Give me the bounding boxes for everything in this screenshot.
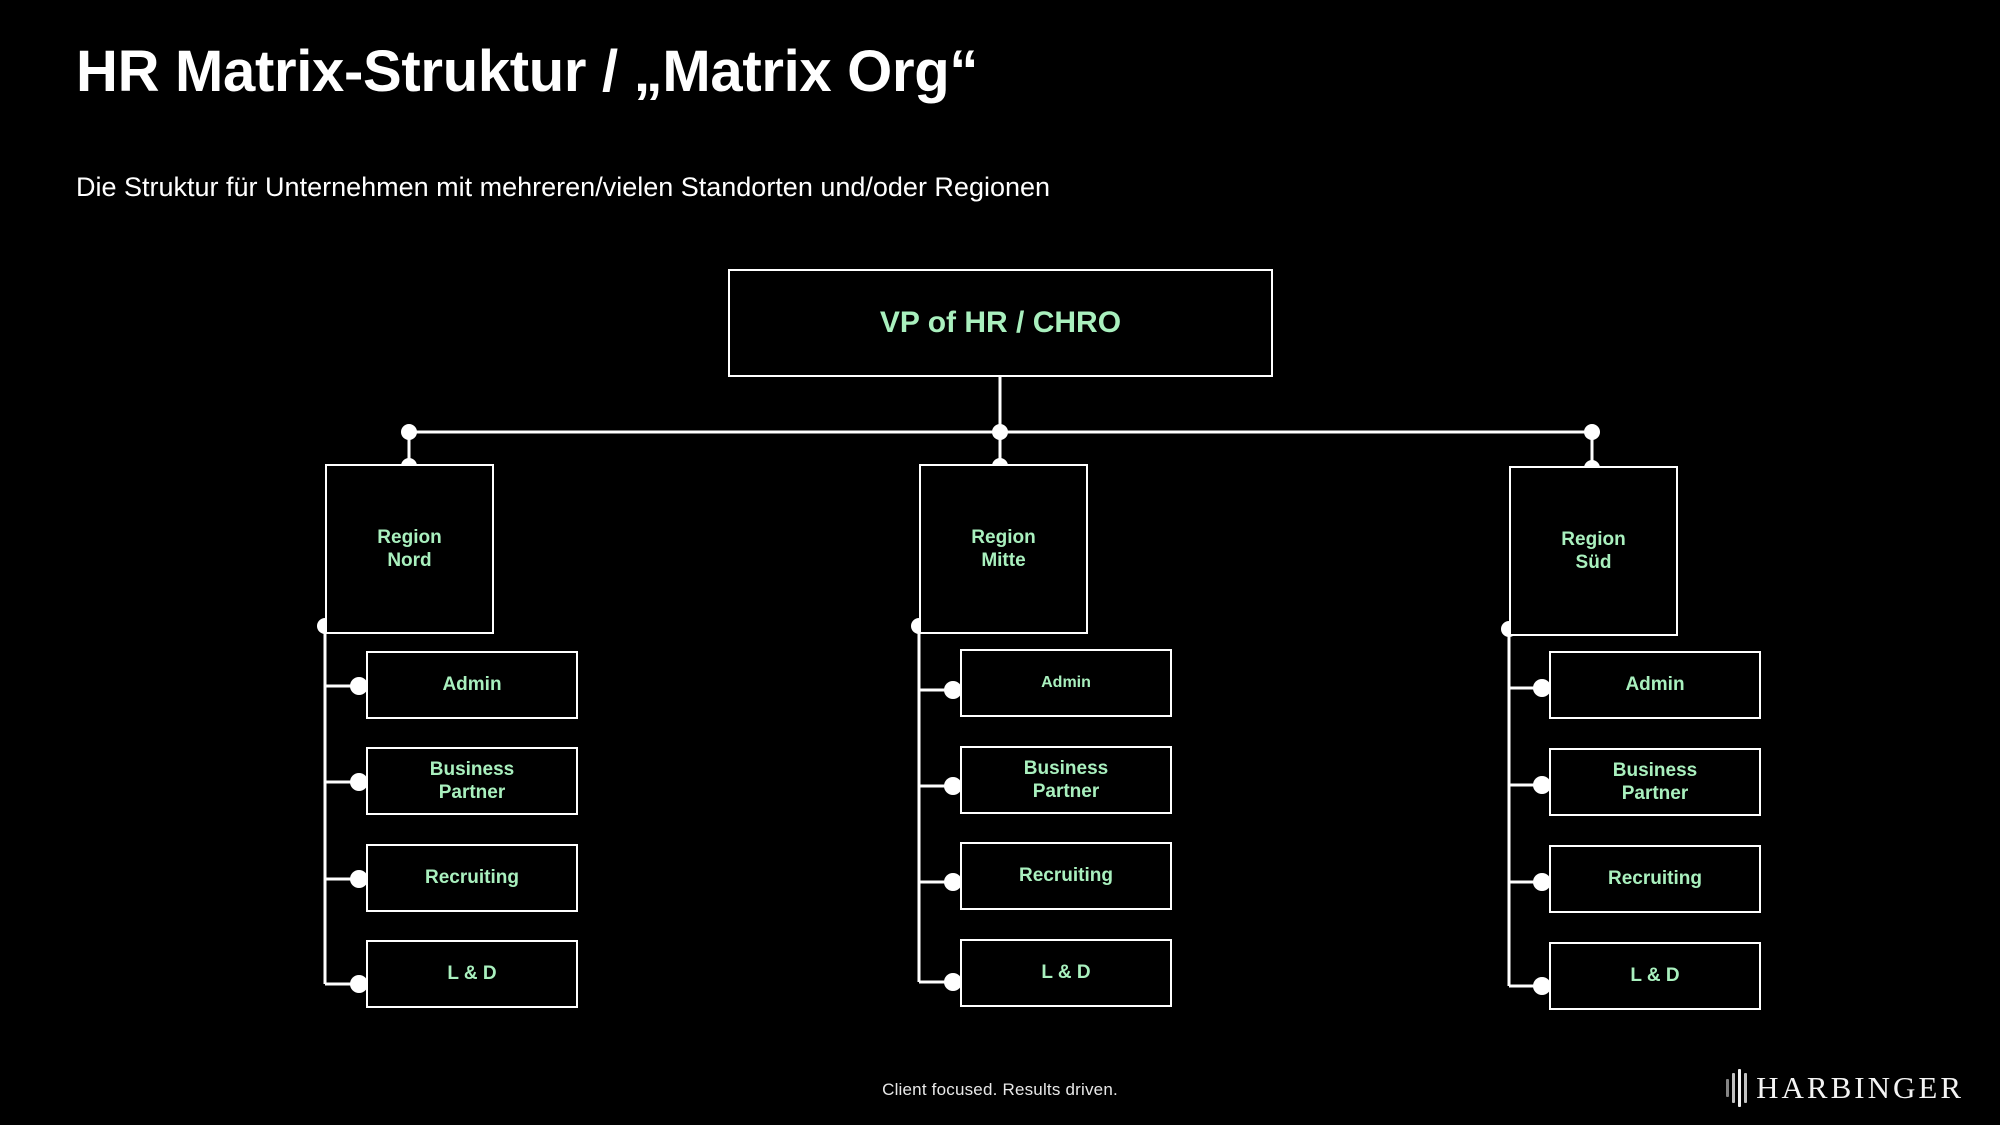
node-region-mitte-line2: Mitte xyxy=(981,550,1025,571)
harbinger-logo: HARBINGER xyxy=(1726,1067,1964,1109)
node-region-sued-line2: Süd xyxy=(1576,552,1612,573)
node-sued-business-partner[interactable]: Business Partner xyxy=(1549,748,1761,816)
node-nord-business-partner[interactable]: Business Partner xyxy=(366,747,578,815)
node-sued-learning-development[interactable]: L & D xyxy=(1549,942,1761,1010)
node-nord-bp-line1: Business xyxy=(430,759,514,780)
footer-tagline: Client focused. Results driven. xyxy=(0,1080,2000,1100)
node-nord-bp-line2: Partner xyxy=(439,782,506,803)
slide-canvas: HR Matrix-Struktur / „Matrix Org“ Die St… xyxy=(0,0,2000,1125)
dot-bus-right xyxy=(1584,424,1600,440)
page-subtitle: Die Struktur für Unternehmen mit mehrere… xyxy=(76,172,1050,203)
node-region-nord[interactable]: Region Nord xyxy=(325,464,494,634)
node-mitte-recruiting[interactable]: Recruiting xyxy=(960,842,1172,910)
dot-bus-center xyxy=(992,424,1008,440)
node-sued-bp-line2: Partner xyxy=(1622,783,1689,804)
node-nord-admin[interactable]: Admin xyxy=(366,651,578,719)
node-nord-recruiting[interactable]: Recruiting xyxy=(366,844,578,912)
node-mitte-learning-development[interactable]: L & D xyxy=(960,939,1172,1007)
node-sued-bp-line1: Business xyxy=(1613,760,1697,781)
dot-bus-left xyxy=(401,424,417,440)
node-sued-recruiting[interactable]: Recruiting xyxy=(1549,845,1761,913)
node-mitte-bp-line1: Business xyxy=(1024,758,1108,779)
node-region-mitte[interactable]: Region Mitte xyxy=(919,464,1088,634)
node-mitte-admin[interactable]: Admin xyxy=(960,649,1172,717)
node-region-nord-line1: Region xyxy=(377,527,441,548)
node-region-sued-line1: Region xyxy=(1561,529,1625,550)
logo-bars-icon xyxy=(1726,1068,1747,1108)
node-region-nord-line2: Nord xyxy=(387,550,431,571)
node-vp-of-hr[interactable]: VP of HR / CHRO xyxy=(728,269,1273,377)
page-title: HR Matrix-Struktur / „Matrix Org“ xyxy=(76,38,978,105)
node-mitte-business-partner[interactable]: Business Partner xyxy=(960,746,1172,814)
logo-wordmark: HARBINGER xyxy=(1756,1070,1964,1106)
node-sued-admin[interactable]: Admin xyxy=(1549,651,1761,719)
node-nord-learning-development[interactable]: L & D xyxy=(366,940,578,1008)
node-region-mitte-line1: Region xyxy=(971,527,1035,548)
node-mitte-bp-line2: Partner xyxy=(1033,781,1100,802)
node-region-sued[interactable]: Region Süd xyxy=(1509,466,1678,636)
